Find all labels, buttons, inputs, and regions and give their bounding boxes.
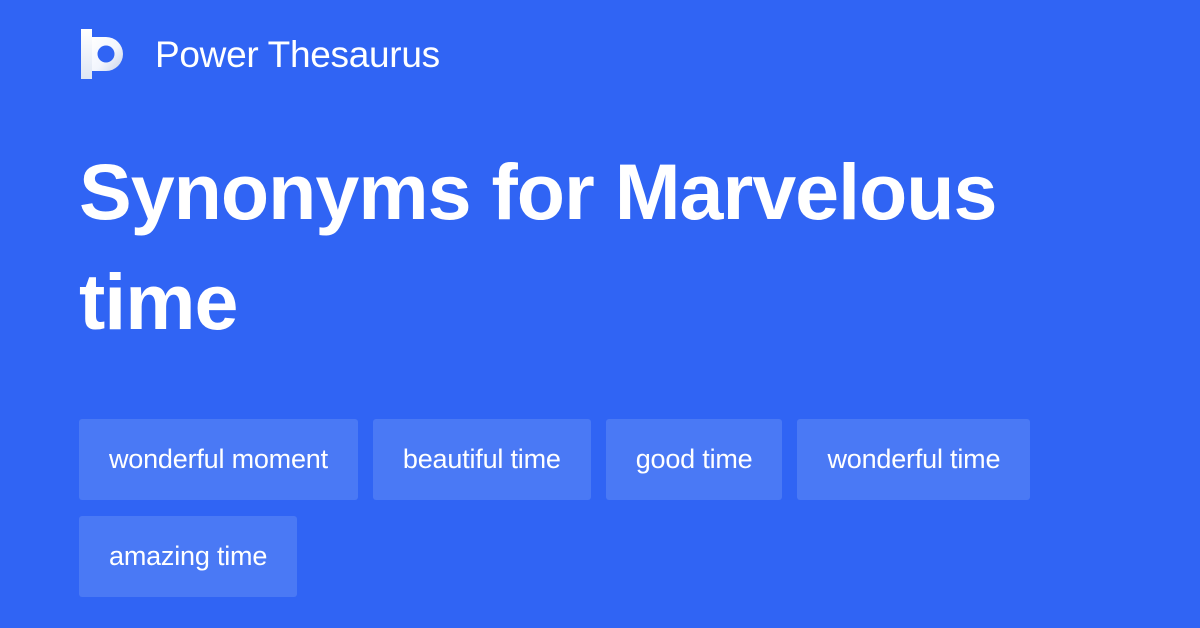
synonym-chip[interactable]: wonderful moment (79, 419, 358, 500)
page-title: Synonyms for Marvelous time (79, 137, 1139, 357)
power-thesaurus-b-logo-icon (79, 27, 133, 81)
thesaurus-share-card: Power Thesaurus Synonyms for Marvelous t… (0, 0, 1200, 628)
synonym-chip[interactable]: beautiful time (373, 419, 591, 500)
brand-header[interactable]: Power Thesaurus (79, 27, 440, 81)
synonym-chip[interactable]: amazing time (79, 516, 297, 597)
synonym-chip[interactable]: wonderful time (797, 419, 1030, 500)
synonym-chip[interactable]: good time (606, 419, 783, 500)
synonym-chip-list: wonderful moment beautiful time good tim… (79, 419, 1119, 597)
brand-name: Power Thesaurus (155, 36, 440, 73)
